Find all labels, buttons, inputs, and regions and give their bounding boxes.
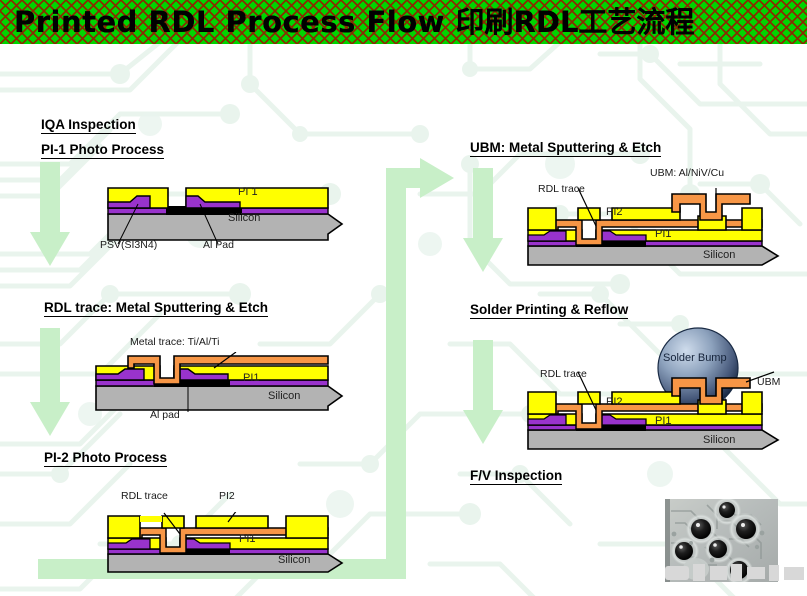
callout-al-pad-2: Al pad [150,409,180,421]
label-pi1-layer-solder: PI1 [655,415,672,427]
callout-rdl-trace-pi2: RDL trace [121,490,168,502]
diagram-solder-printing-reflow [520,326,790,452]
label-silicon-3: Silicon [278,554,310,566]
title-banner: Printed RDL Process Flow 印刷RDL工艺流程 [0,0,807,44]
callout-rdl-trace-ubm: RDL trace [538,183,585,195]
arrow-right-down-1 [463,168,503,272]
callout-al-pad-1: Al Pad [203,239,234,251]
arrow-left-down-1 [30,162,70,266]
callout-ubm-solder: UBM [757,376,780,388]
slide-canvas: Printed RDL Process Flow 印刷RDL工艺流程 IQA I… [0,0,807,596]
heading-solder-printing-reflow: Solder Printing & Reflow [470,302,628,319]
callout-psv-si3n4: PSV(SI3N4) [100,239,157,251]
label-silicon-1: Silicon [228,212,260,224]
label-pi1-layer-2: PI1 [243,372,260,384]
label-silicon-2: Silicon [268,390,300,402]
label-silicon-4: Silicon [703,249,735,261]
label-solder-bump: Solder Bump [663,352,727,364]
label-pi2-layer-ubm: PI2 [606,206,623,218]
label-pi2-layer-solder: PI2 [606,396,623,408]
arrow-right-down-2 [463,340,503,444]
label-silicon-5: Silicon [703,434,735,446]
redacted-watermark-strip [665,560,807,588]
diagram-pi1-photo-process [90,178,350,248]
diagram-pi2-photo-process [100,512,362,574]
slide-title: Printed RDL Process Flow 印刷RDL工艺流程 [14,1,694,43]
slide-title-en: Printed RDL Process Flow [14,5,445,39]
callout-ubm-alnivcu: UBM: Al/NiV/Cu [650,167,724,179]
callout-metal-trace-tialti: Metal trace: Ti/Al/Ti [130,336,219,348]
callout-pi2-layer: PI2 [219,490,235,502]
callout-rdl-trace-solder: RDL trace [540,368,587,380]
label-pi1-layer-ubm: PI1 [655,228,672,240]
label-pi1-layer-3: PI1 [239,533,256,545]
heading-iqa-inspection: IQA Inspection [41,117,136,134]
heading-pi2-photo-process: PI-2 Photo Process [44,450,167,467]
heading-rdl-trace-sputtering: RDL trace: Metal Sputtering & Etch [44,300,268,317]
heading-pi1-photo-process: PI-1 Photo Process [41,142,164,159]
arrow-left-down-2 [30,328,70,436]
diagram-rdl-trace-sputtering [88,352,350,414]
heading-ubm-sputtering: UBM: Metal Sputtering & Etch [470,140,661,157]
label-pi1-layer: PI 1 [238,186,258,198]
slide-title-cn: 印刷RDL工艺流程 [456,5,695,39]
heading-fv-inspection: F/V Inspection [470,468,562,485]
